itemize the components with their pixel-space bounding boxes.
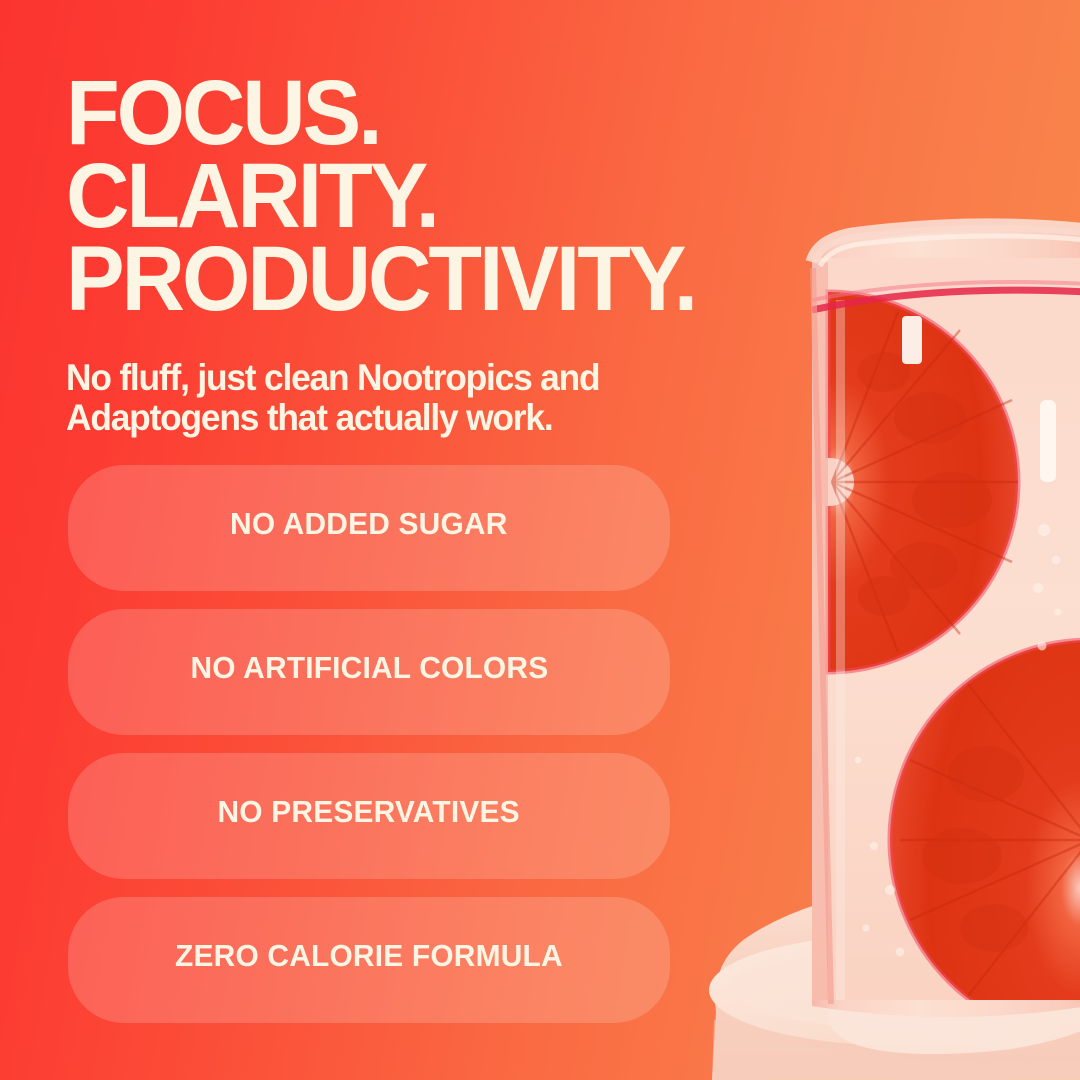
ice-cube xyxy=(937,892,1080,1050)
glass-tumbler xyxy=(800,225,1080,1040)
grapefruit-slice-lower xyxy=(890,640,1080,1040)
feature-pill-no-preservatives[interactable]: NO PRESERVATIVES xyxy=(68,753,670,879)
feature-pill-list: NO ADDED SUGAR NO ARTIFICIAL COLORS NO P… xyxy=(68,465,670,1023)
grapefruit-slice-upper xyxy=(806,292,1018,672)
page-title: FOCUS. CLARITY. PRODUCTIVITY. xyxy=(66,72,735,320)
feature-pill-label: NO ARTIFICIAL COLORS xyxy=(190,650,548,686)
feature-pill-label: NO ADDED SUGAR xyxy=(230,506,507,542)
feature-pill-label: ZERO CALORIE FORMULA xyxy=(175,938,563,974)
feature-pill-no-added-sugar[interactable]: NO ADDED SUGAR xyxy=(68,465,670,591)
ice-cube xyxy=(828,972,1080,1054)
feature-pill-label: NO PRESERVATIVES xyxy=(218,794,520,830)
stone-coaster xyxy=(709,882,1080,1080)
subheadline: No fluff, just clean Nootropics and Adap… xyxy=(66,358,735,438)
copy-block: FOCUS. CLARITY. PRODUCTIVITY. No fluff, … xyxy=(66,72,766,438)
feature-pill-zero-calorie-formula[interactable]: ZERO CALORIE FORMULA xyxy=(68,897,670,1023)
promo-poster: FOCUS. CLARITY. PRODUCTIVITY. No fluff, … xyxy=(0,0,1080,1080)
feature-pill-no-artificial-colors[interactable]: NO ARTIFICIAL COLORS xyxy=(68,609,670,735)
